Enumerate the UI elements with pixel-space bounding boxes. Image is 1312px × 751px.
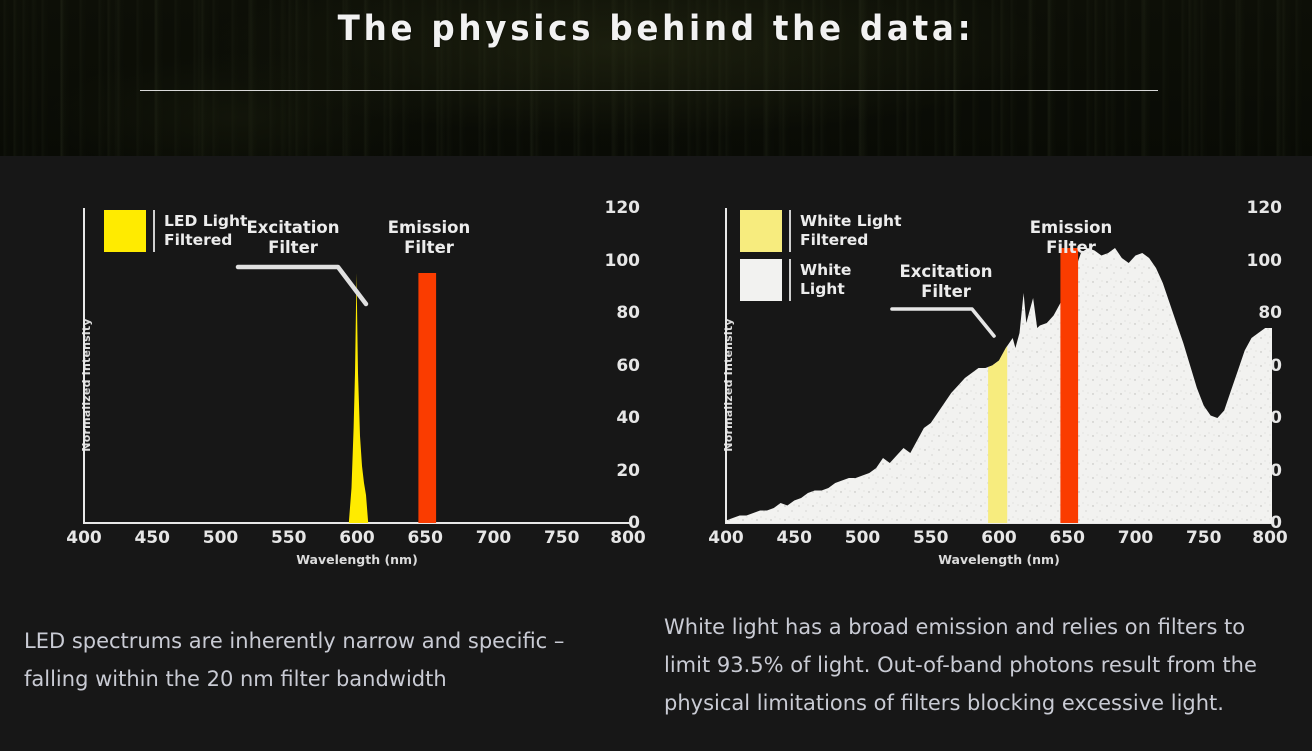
x-tick-700-led: 700	[476, 528, 512, 548]
legend-swatch-white-light	[740, 259, 782, 301]
legend-white: White Light Filtered White Light	[740, 210, 902, 301]
chart-white-light-spectrum: Normalized Intensity 120 100 80 60 40 20…	[666, 200, 1282, 570]
series-emission-filter-white	[1060, 248, 1078, 523]
x-tick-800-white: 800	[1252, 528, 1288, 548]
legend-swatch-led-light-filtered	[104, 210, 146, 252]
x-tick-650-white: 650	[1049, 528, 1085, 548]
legend-label-white-light-filtered: White Light Filtered	[800, 212, 902, 250]
x-tick-450-led: 450	[134, 528, 170, 548]
x-tick-750-white: 750	[1186, 528, 1222, 548]
x-tick-800-led: 800	[610, 528, 646, 548]
annotation-emission-filter-led: Emission Filter	[364, 218, 494, 258]
x-tick-550-white: 550	[913, 528, 949, 548]
leader-line-excitation-white	[888, 304, 1008, 344]
slide-header: The physics behind the data:	[0, 0, 1312, 156]
legend-item-white-light: White Light	[740, 259, 902, 301]
annotation-excitation-filter-led: Excitation Filter	[228, 218, 358, 258]
caption-led: LED spectrums are inherently narrow and …	[24, 622, 624, 698]
x-tick-500-led: 500	[203, 528, 239, 548]
legend-label-white-light: White Light	[800, 261, 851, 299]
legend-led: LED Light Filtered	[104, 210, 247, 252]
annotation-excitation-filter-white: Excitation Filter	[881, 262, 1011, 302]
legend-swatch-white-light-filtered	[740, 210, 782, 252]
x-tick-600-led: 600	[339, 528, 375, 548]
legend-divider	[153, 210, 155, 252]
x-tick-450-white: 450	[776, 528, 812, 548]
x-tick-400-led: 400	[66, 528, 102, 548]
legend-item-white-light-filtered: White Light Filtered	[740, 210, 902, 252]
legend-item-led-light-filtered: LED Light Filtered	[104, 210, 247, 252]
x-tick-700-white: 700	[1118, 528, 1154, 548]
panels-container: Normalized Intensity 120 100 80 60 40 20…	[0, 156, 1312, 751]
header-divider	[140, 90, 1158, 91]
leader-line-excitation-led	[234, 262, 374, 310]
chart-led-spectrum: Normalized Intensity 120 100 80 60 40 20…	[24, 200, 640, 570]
x-tick-650-led: 650	[407, 528, 443, 548]
x-tick-400-white: 400	[708, 528, 744, 548]
x-tick-550-led: 550	[271, 528, 307, 548]
annotation-emission-filter-white: Emission Filter	[1006, 218, 1136, 258]
caption-white-light: White light has a broad emission and rel…	[664, 608, 1284, 722]
x-tick-600-white: 600	[981, 528, 1017, 548]
slide-root: The physics behind the data: Normalized …	[0, 0, 1312, 751]
series-led-light-filtered	[349, 273, 368, 523]
series-white-light-filtered	[988, 208, 1007, 523]
x-axis-label-led: Wavelength (nm)	[83, 552, 631, 567]
legend-divider	[789, 210, 791, 252]
page-title: The physics behind the data:	[46, 9, 1266, 49]
x-axis-label-white: Wavelength (nm)	[725, 552, 1273, 567]
series-emission-filter-led	[418, 273, 436, 523]
x-tick-500-white: 500	[845, 528, 881, 548]
panel-led: Normalized Intensity 120 100 80 60 40 20…	[0, 156, 656, 751]
panel-white-light: Normalized Intensity 120 100 80 60 40 20…	[656, 156, 1312, 751]
x-tick-750-led: 750	[544, 528, 580, 548]
legend-divider	[789, 259, 791, 301]
